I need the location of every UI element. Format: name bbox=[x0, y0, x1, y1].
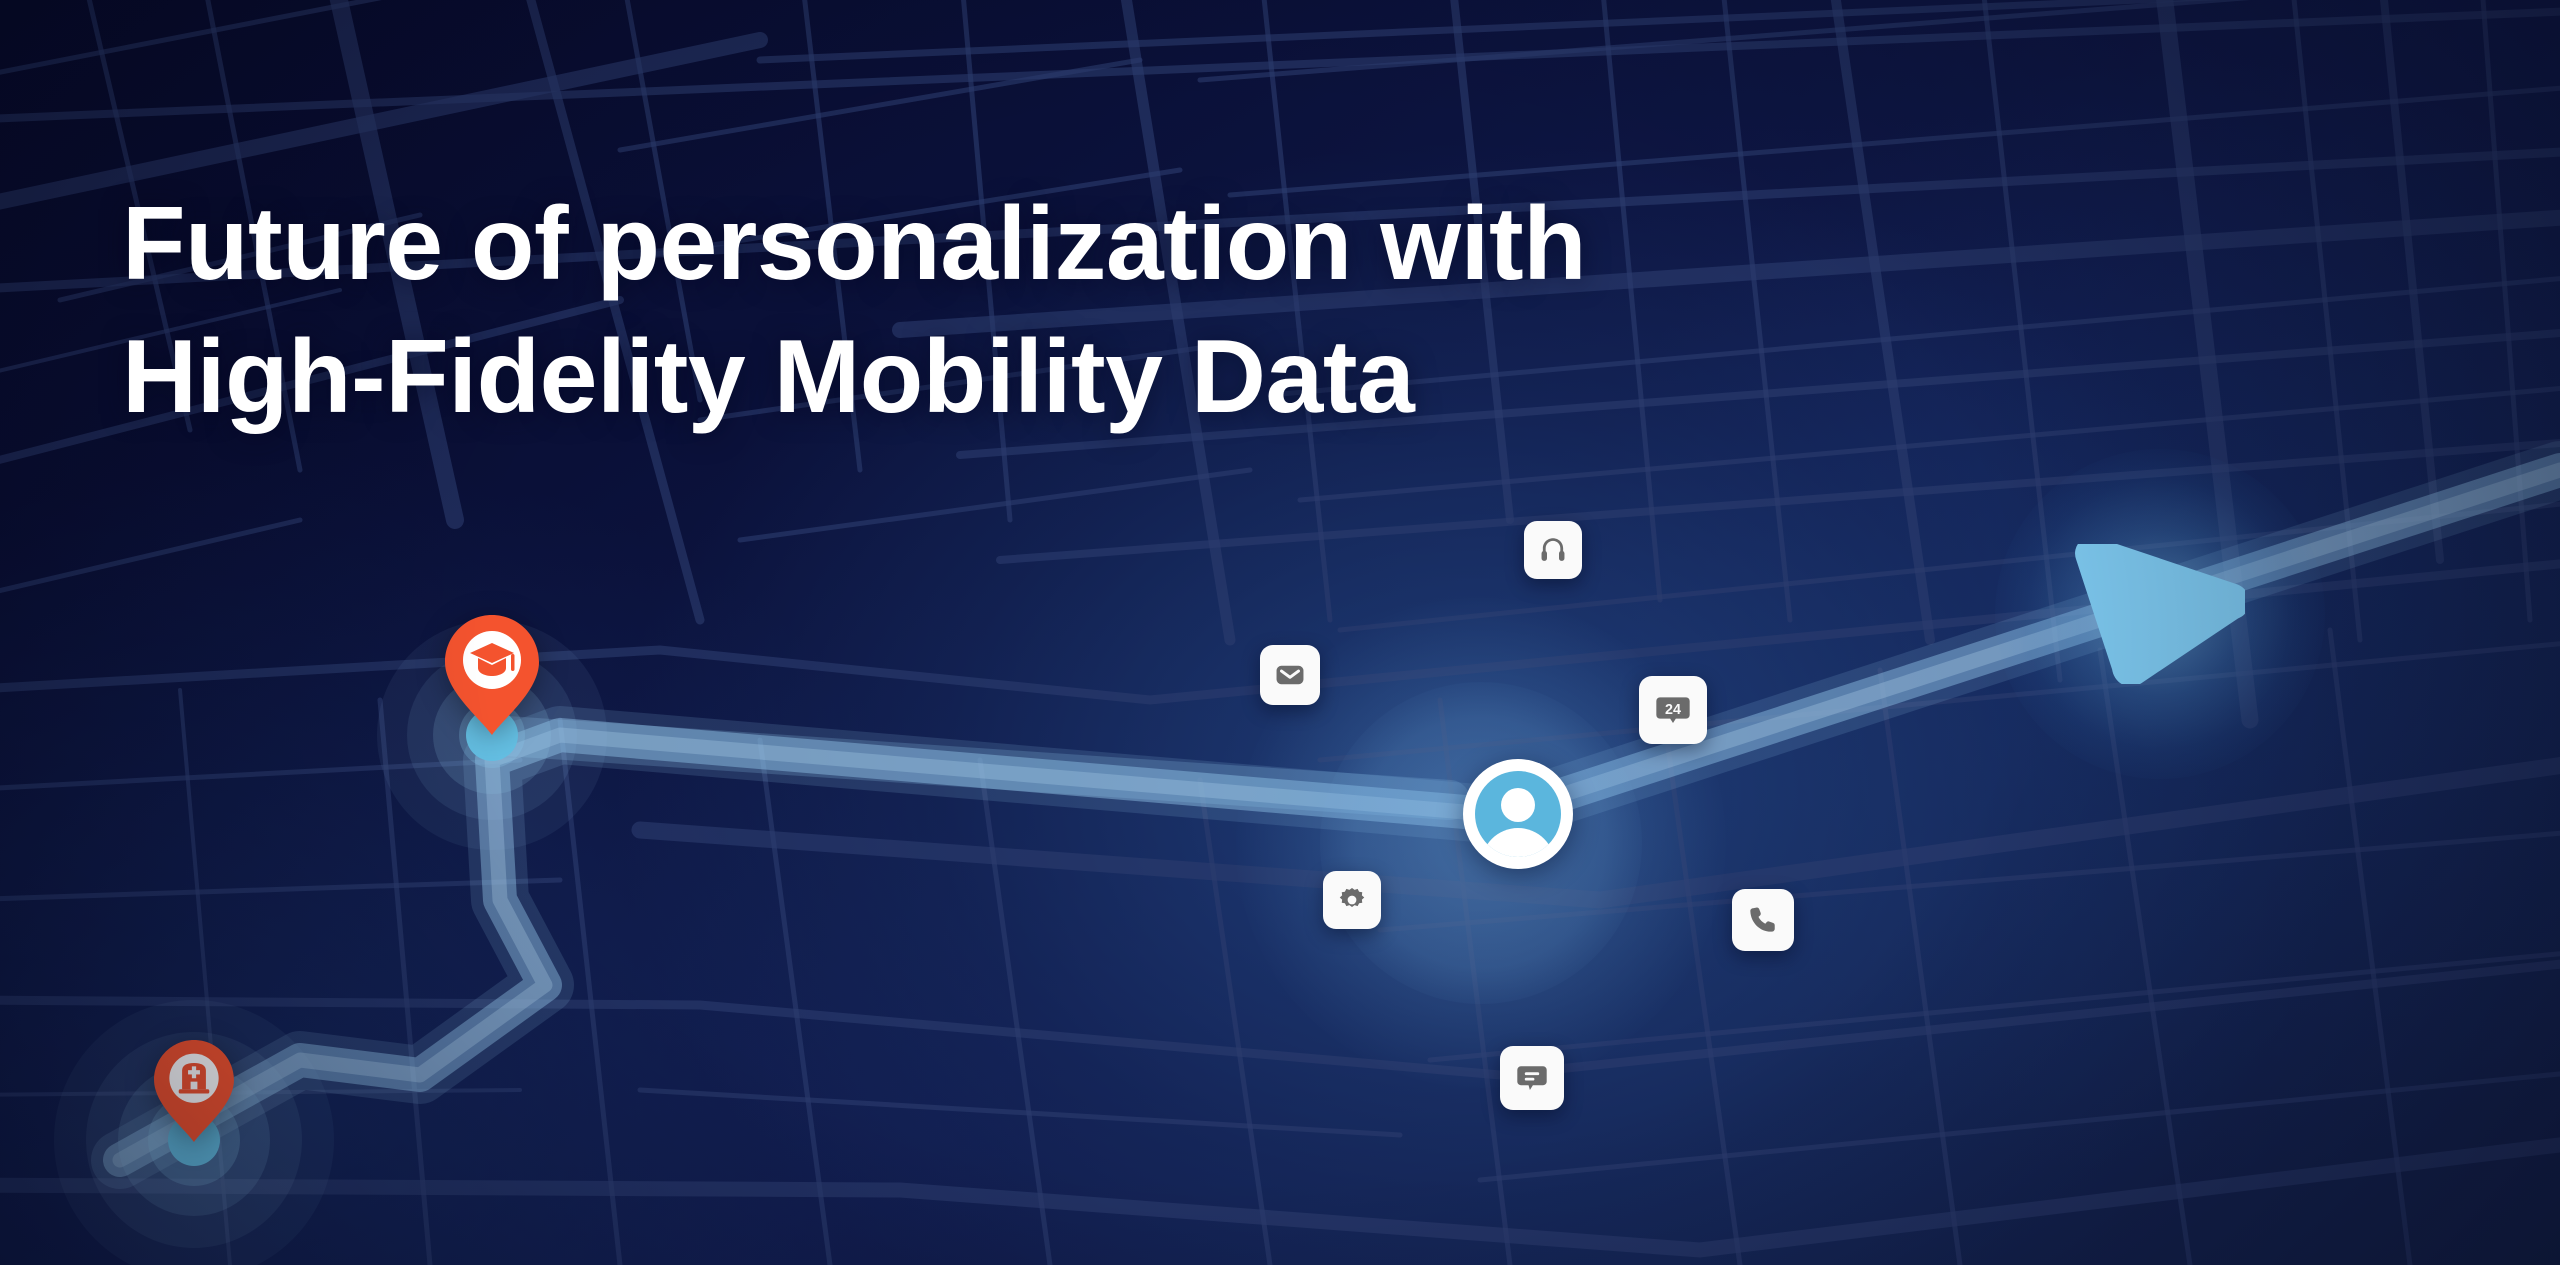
page-title: Future of personalization with High-Fide… bbox=[122, 178, 1586, 444]
hero-banner: 24 Future of personalization with High-F… bbox=[0, 0, 2560, 1265]
